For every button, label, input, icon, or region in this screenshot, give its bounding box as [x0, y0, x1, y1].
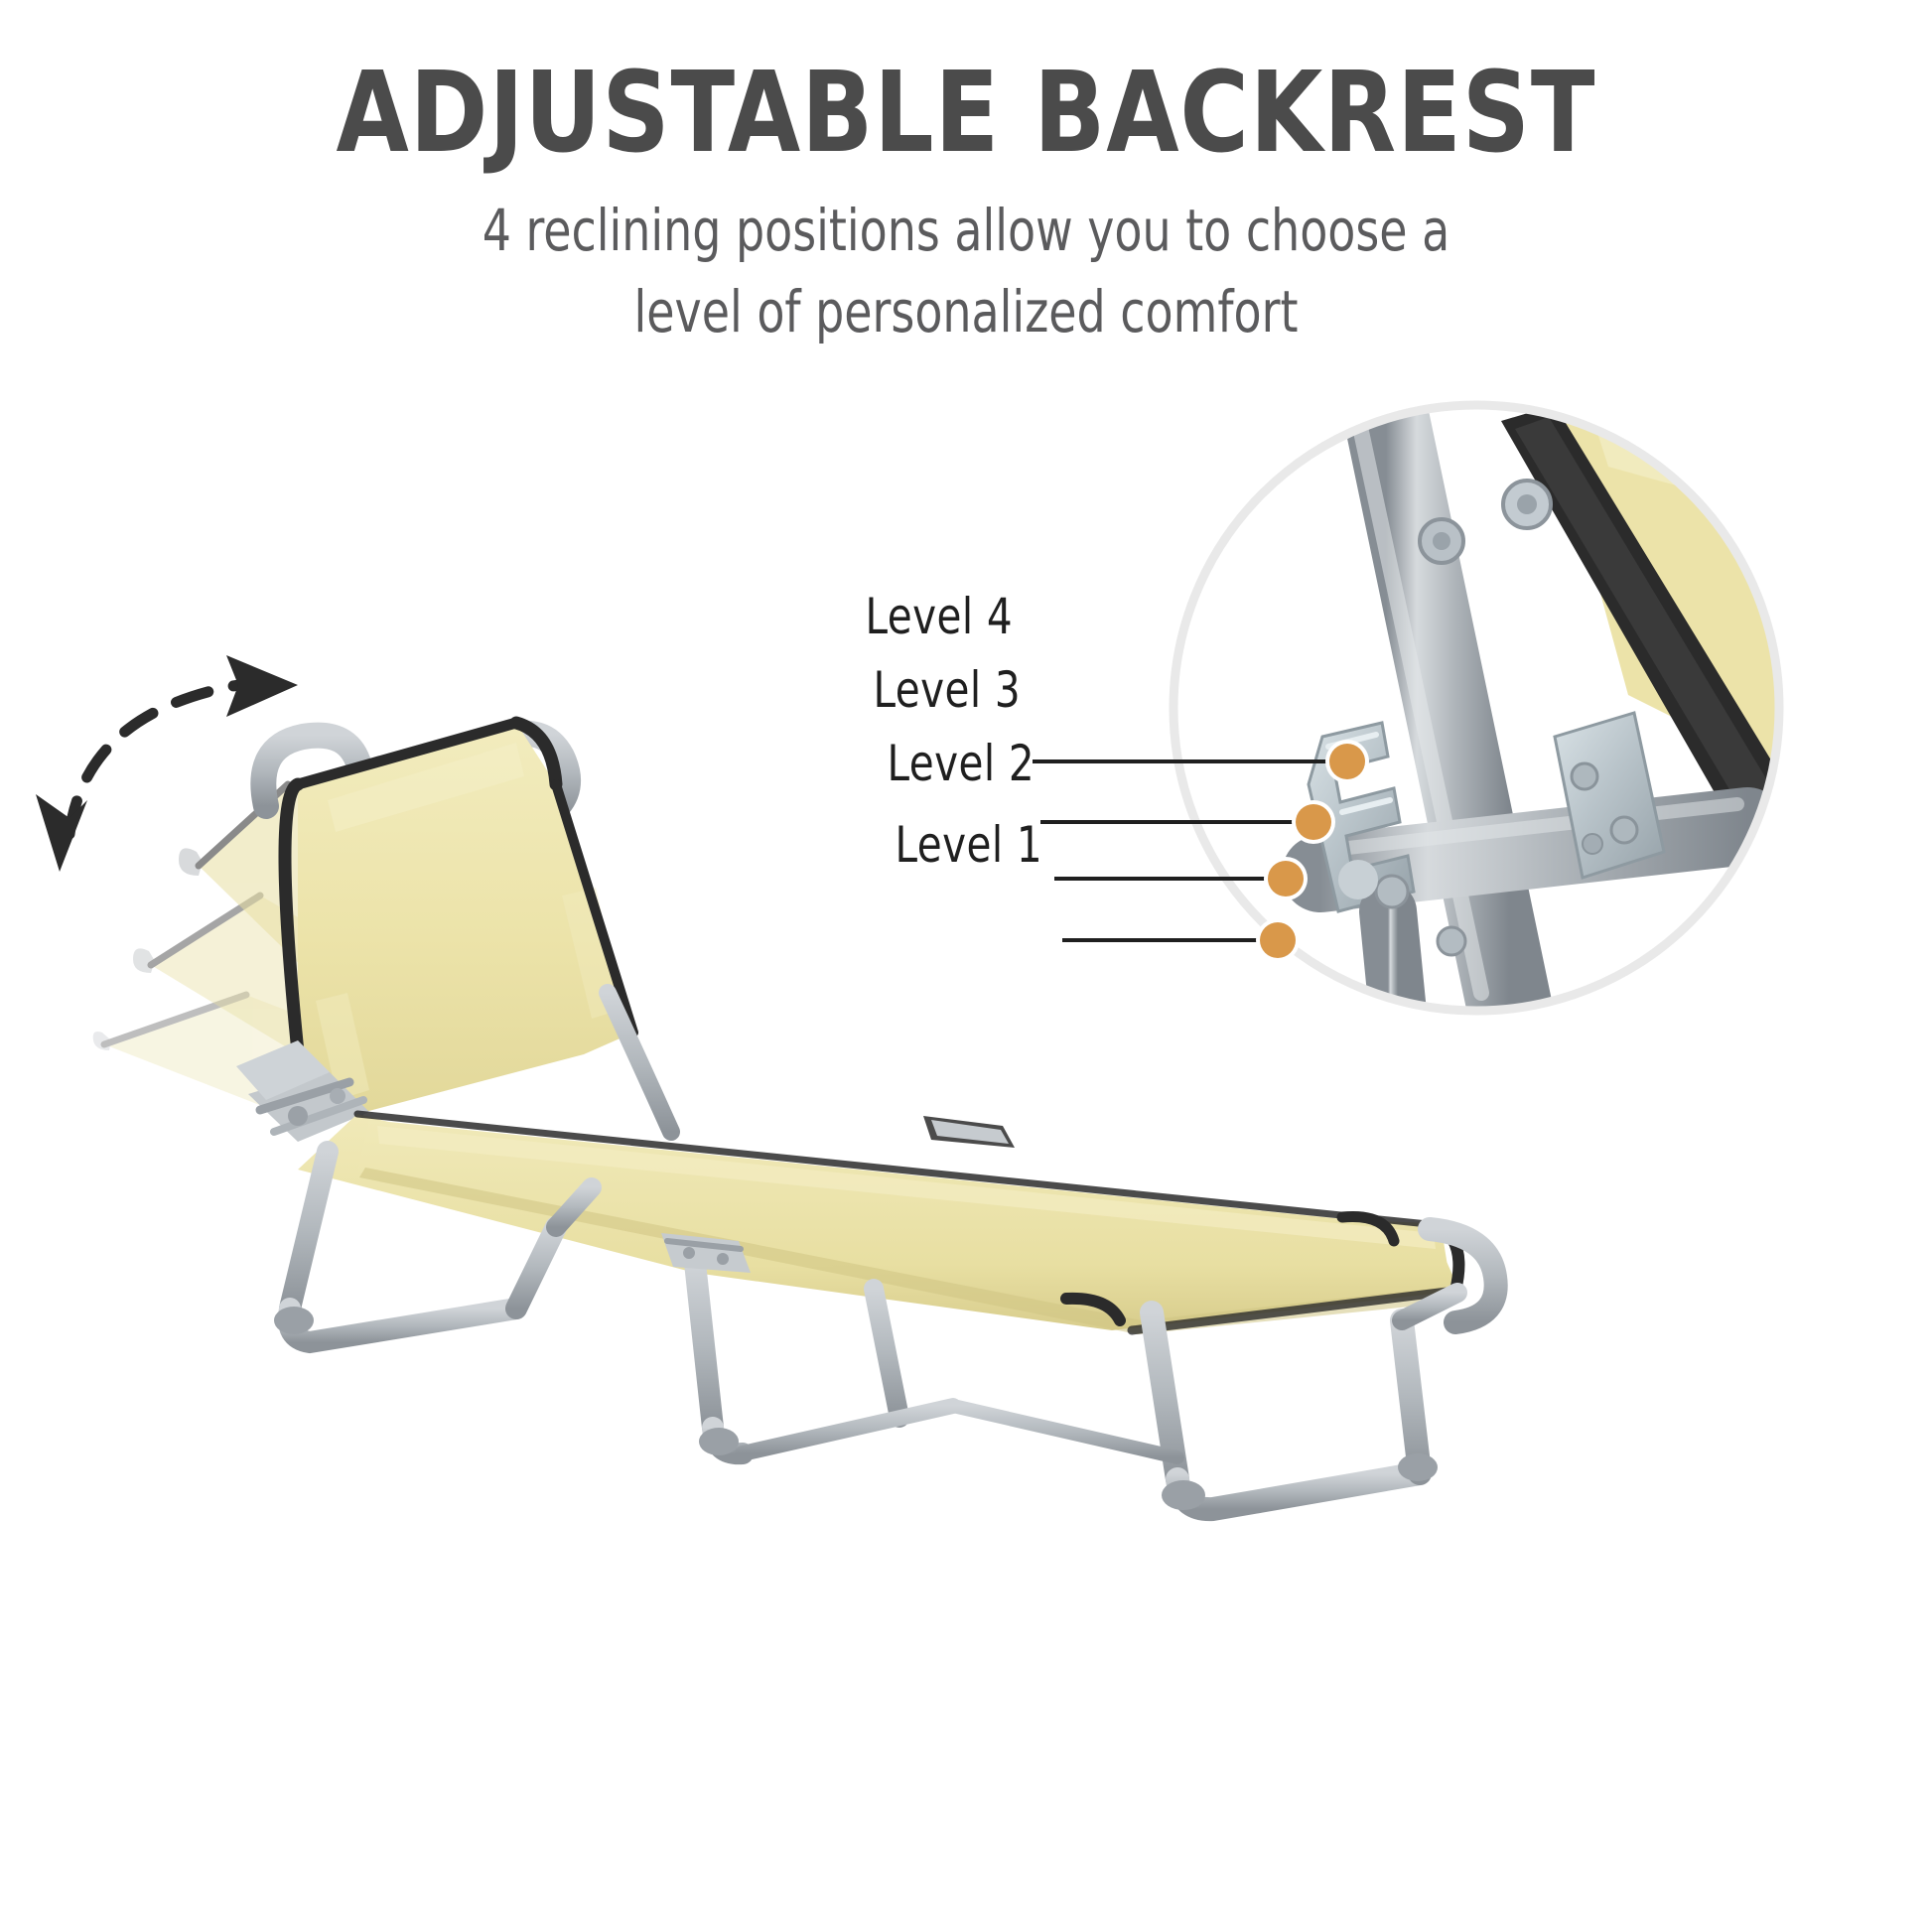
level-3-label: Level 3 — [873, 661, 1021, 719]
level-2-label: Level 2 — [887, 735, 1035, 792]
level-1-label: Level 1 — [895, 816, 1042, 874]
level-leader-lines — [0, 0, 1932, 1932]
product-feature-graphic: ADJUSTABLE BACKREST 4 reclining position… — [0, 0, 1932, 1932]
level-4-label: Level 4 — [865, 588, 1013, 645]
